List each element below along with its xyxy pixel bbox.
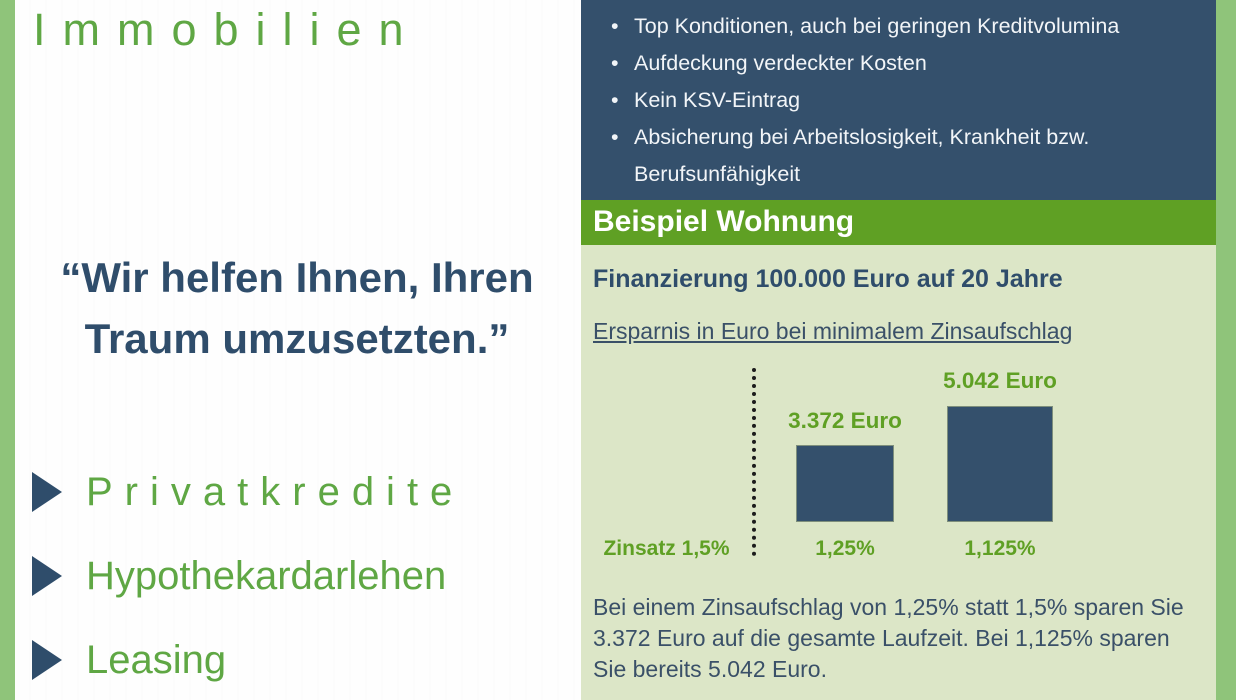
bar-1-125-percent (947, 406, 1053, 522)
benefit-text: Absicherung bei Arbeitslosigkeit, Krankh… (634, 125, 1089, 149)
service-label: Privatkredite (86, 470, 464, 515)
benefit-list: Top Konditionen, auch bei geringen Kredi… (581, 0, 1216, 193)
list-item[interactable]: Leasing (23, 618, 568, 700)
triangle-bullet-icon (32, 640, 62, 680)
slide-root: Immobilien “Wir helfen Ihnen, Ihren Trau… (0, 0, 1236, 700)
list-item: Kein KSV-Eintrag (609, 82, 1200, 119)
axis-tick-label: 1,25% (786, 537, 904, 561)
triangle-bullet-icon (32, 556, 62, 596)
service-label: Hypothekardarlehen (86, 554, 446, 599)
list-item: Aufdeckung verdeckter Kosten (609, 45, 1200, 82)
service-list: Privatkredite Hypothekardarlehen Leasing (23, 450, 568, 700)
benefit-text-continuation: Berufsunfähigkeit (634, 156, 1200, 193)
bar-value-label: 3.372 Euro (786, 408, 904, 434)
explanation-paragraph: Bei einem Zinsaufschlag von 1,25% statt … (593, 592, 1205, 685)
tagline-quote: “Wir helfen Ihnen, Ihren Traum umzusetzt… (37, 248, 557, 370)
section-band: Beispiel Wohnung (581, 200, 1216, 245)
right-accent-strip (1216, 0, 1236, 700)
right-panel: Top Konditionen, auch bei geringen Kredi… (581, 0, 1216, 700)
left-accent-strip (0, 0, 15, 700)
benefit-text: Kein KSV-Eintrag (634, 88, 800, 112)
list-item: Top Konditionen, auch bei geringen Kredi… (609, 8, 1200, 45)
triangle-bullet-icon (32, 472, 62, 512)
benefits-box: Top Konditionen, auch bei geringen Kredi… (581, 0, 1216, 200)
axis-tick-label-baseline: Zinsatz 1,5% (589, 537, 744, 561)
service-label: Leasing (86, 638, 226, 683)
chart-subtitle: Ersparnis in Euro bei minimalem Zinsaufs… (593, 318, 1072, 345)
axis-tick-label: 1,125% (941, 537, 1059, 561)
section-band-label: Beispiel Wohnung (593, 205, 854, 239)
savings-bar-chart: 3.372 Euro 5.042 Euro Zinsatz 1,5% 1,25%… (581, 360, 1216, 565)
bar-1-25-percent (796, 445, 894, 522)
finance-heading: Finanzierung 100.000 Euro auf 20 Jahre (593, 265, 1063, 294)
page-title: Immobilien (33, 4, 421, 56)
bar-value-label: 5.042 Euro (941, 368, 1059, 394)
list-item: Absicherung bei Arbeitslosigkeit, Krankh… (609, 119, 1200, 193)
left-panel: Immobilien “Wir helfen Ihnen, Ihren Trau… (15, 0, 581, 700)
chart-baseline-divider (752, 368, 756, 556)
list-item[interactable]: Hypothekardarlehen (23, 534, 568, 618)
list-item[interactable]: Privatkredite (23, 450, 568, 534)
benefit-text: Top Konditionen, auch bei geringen Kredi… (634, 14, 1119, 38)
benefit-text: Aufdeckung verdeckter Kosten (634, 51, 927, 75)
